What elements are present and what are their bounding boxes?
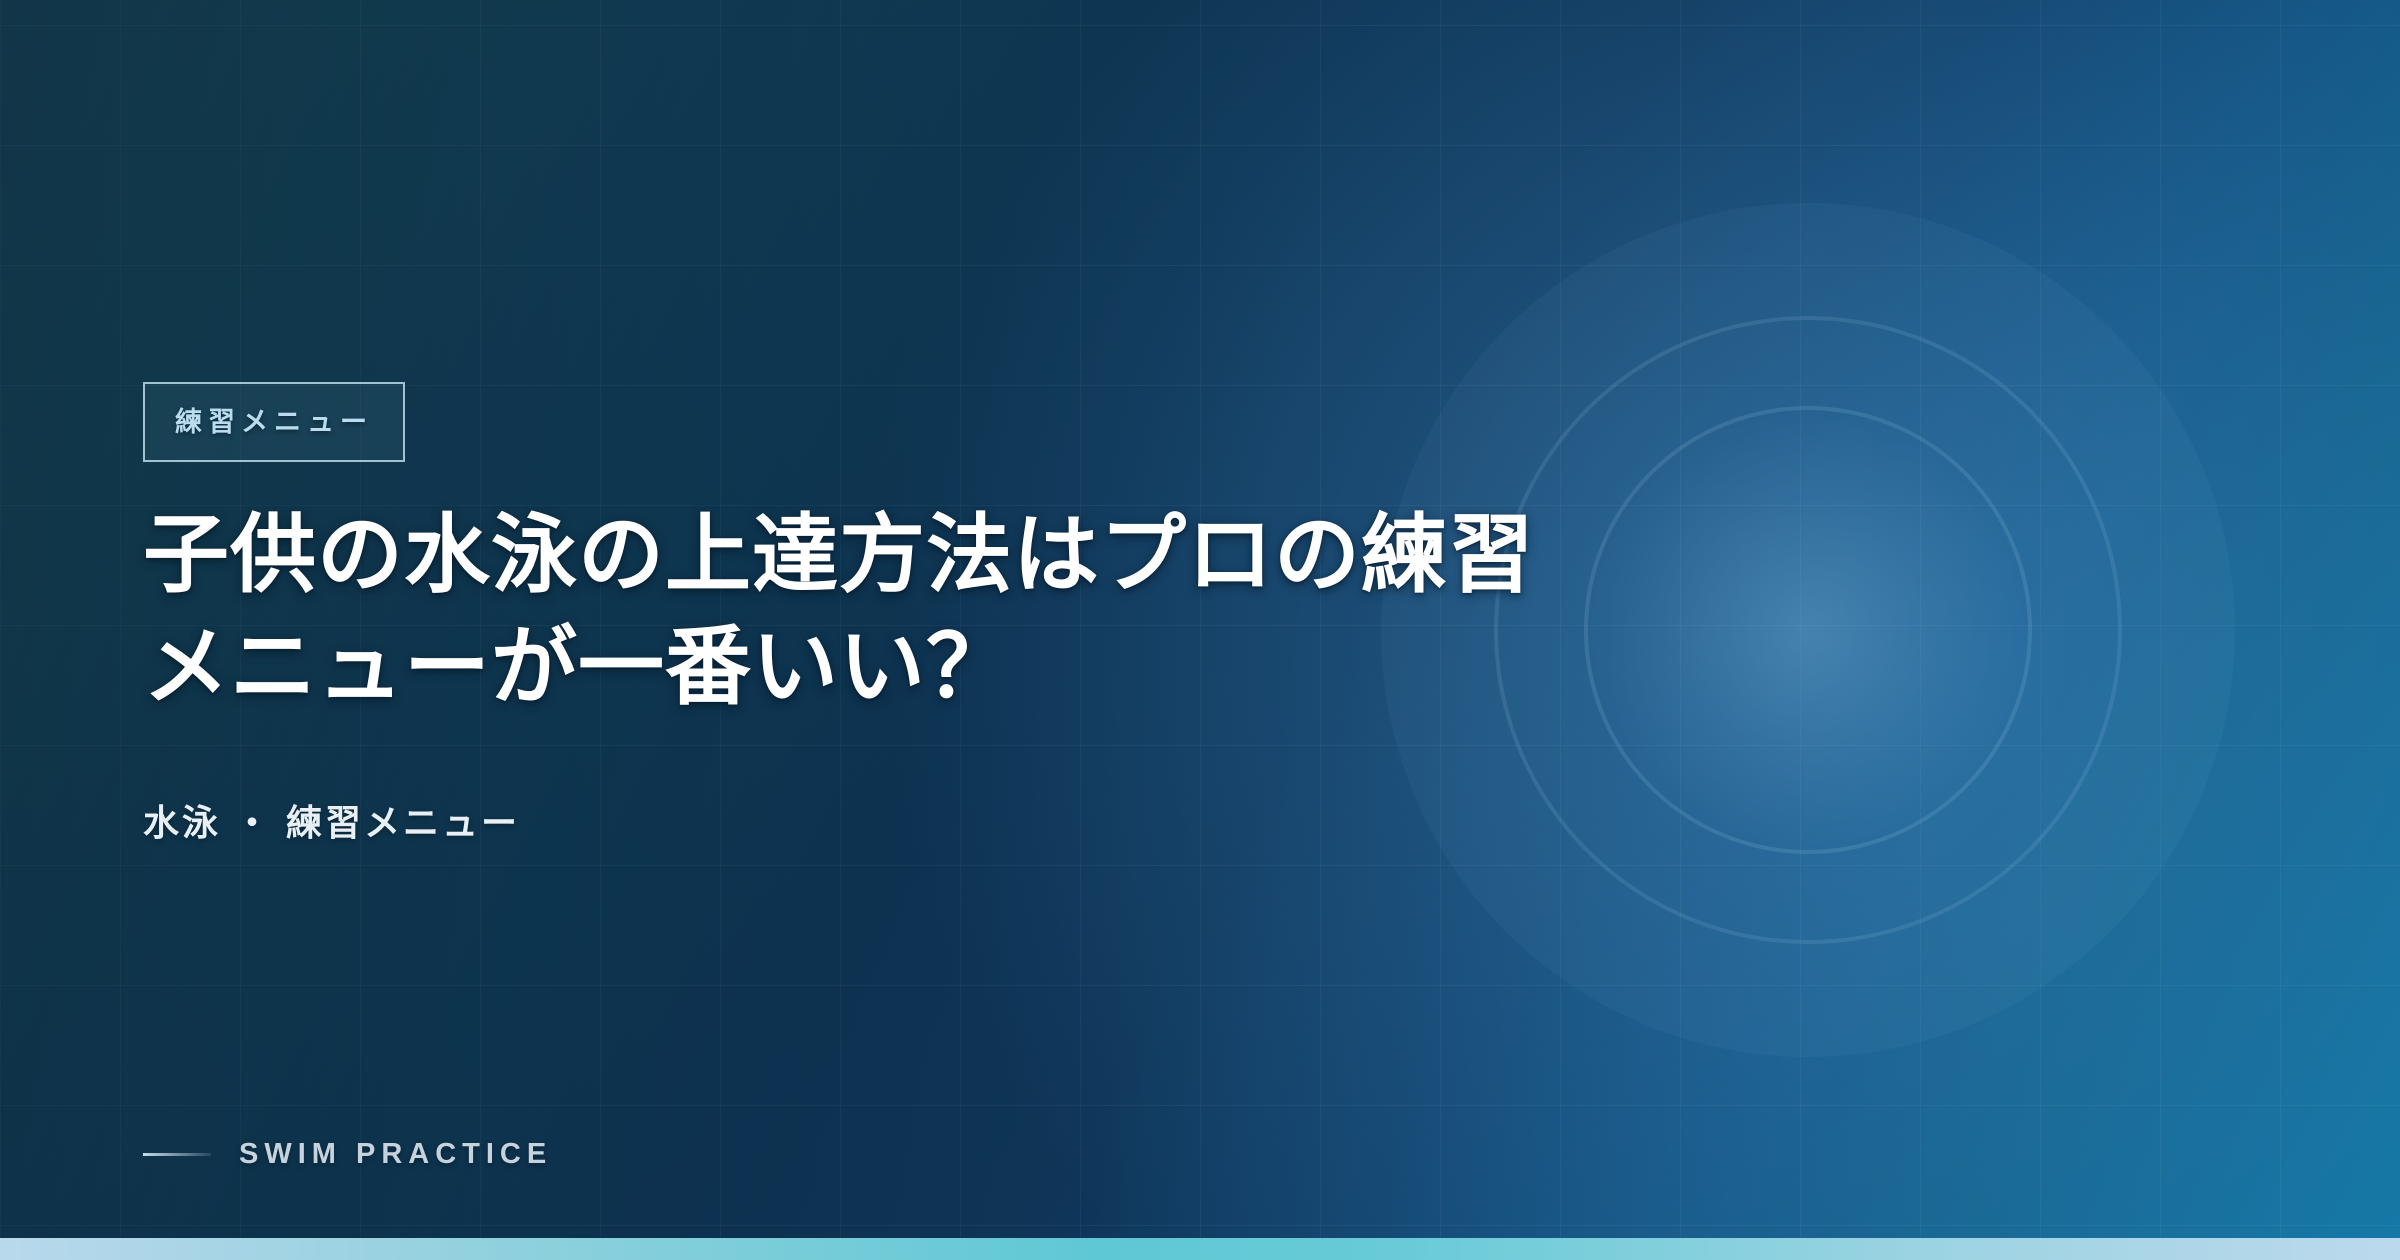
footer-brand-label: SWIM PRACTICE xyxy=(239,1140,552,1169)
breadcrumb: 水泳 ・ 練習メニュー xyxy=(143,805,520,841)
category-badge: 練習メニュー xyxy=(143,382,405,462)
bottom-accent-bar xyxy=(0,1238,2400,1260)
footer-rule-divider xyxy=(143,1153,211,1156)
category-badge-label: 練習メニュー xyxy=(175,409,373,436)
page-title: 子供の水泳の上達方法はプロの練習メニューが一番いい？ xyxy=(143,500,1563,724)
footer-brand: SWIM PRACTICE xyxy=(143,1140,552,1169)
banner-content: 練習メニュー 子供の水泳の上達方法はプロの練習メニューが一番いい？ 水泳 ・ 練… xyxy=(143,0,1843,1260)
hero-banner: 練習メニュー 子供の水泳の上達方法はプロの練習メニューが一番いい？ 水泳 ・ 練… xyxy=(0,0,2400,1260)
